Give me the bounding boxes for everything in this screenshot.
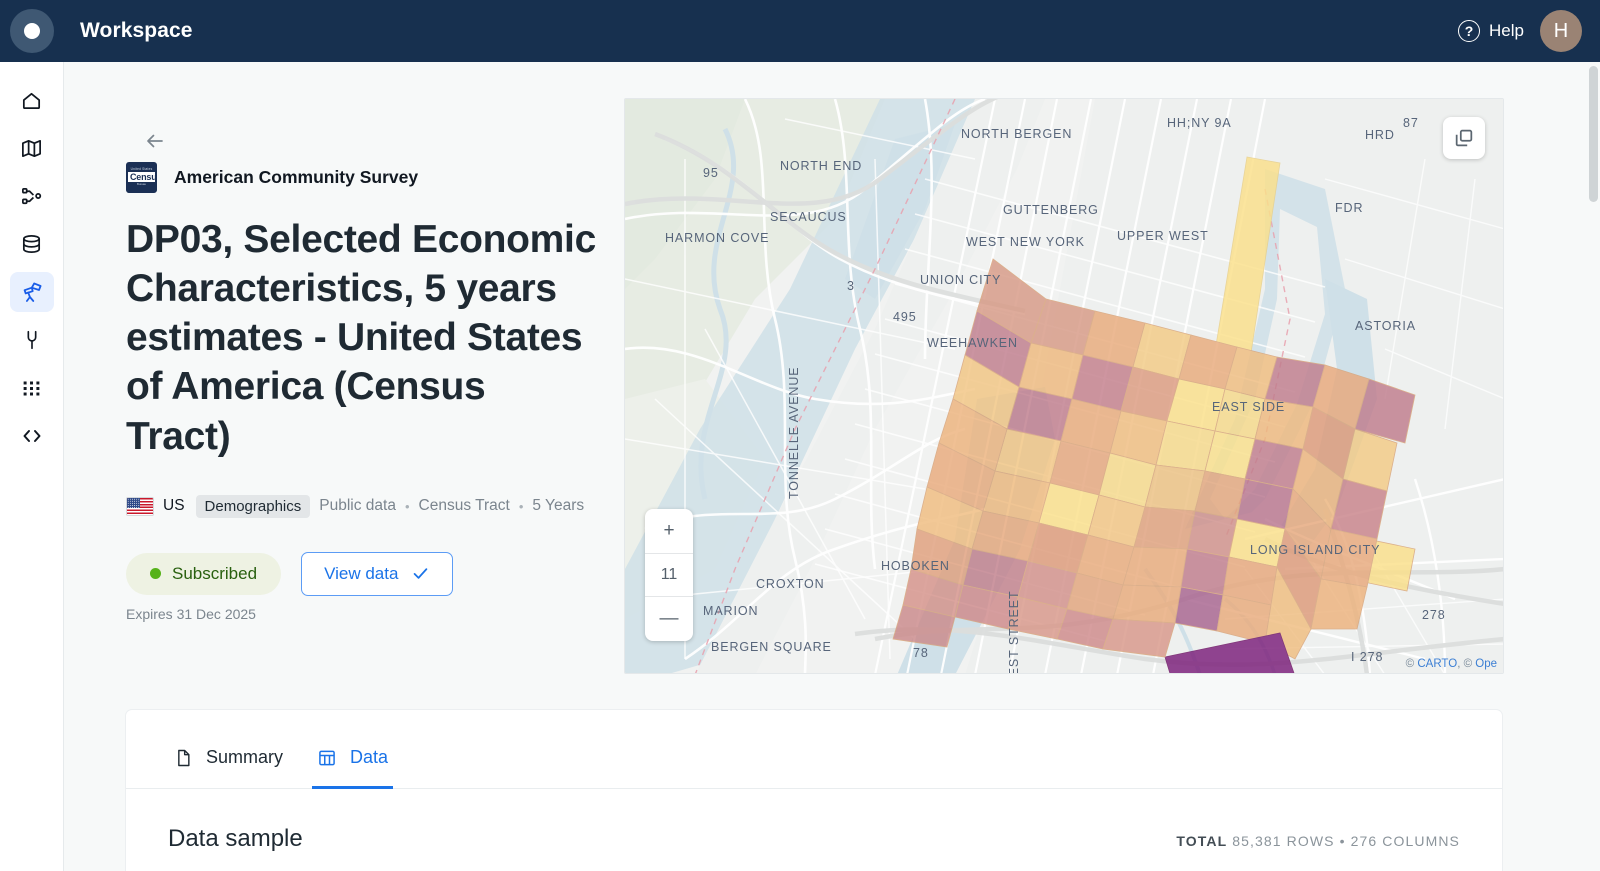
map-zoom-control[interactable]: + 11 — xyxy=(645,509,693,641)
sidebar-item-data[interactable] xyxy=(10,224,54,264)
dataset-meta: US Demographics Public data • Census Tra… xyxy=(126,495,646,518)
provider-name: American Community Survey xyxy=(174,167,418,188)
meta-category-chip[interactable]: Demographics xyxy=(196,495,311,518)
page-title: DP03, Selected Economic Characteristics,… xyxy=(126,215,596,461)
help-label: Help xyxy=(1489,21,1524,41)
code-brackets-icon xyxy=(20,424,44,448)
meta-separator-1: • xyxy=(405,499,410,514)
zoom-out-button[interactable]: — xyxy=(645,597,693,641)
dataset-actions: Subscribed View data xyxy=(126,552,646,596)
avatar[interactable]: H xyxy=(1540,10,1582,52)
meta-separator-2: • xyxy=(519,499,524,514)
meta-geography: Census Tract xyxy=(419,497,510,515)
tab-bar: Summary Data xyxy=(126,710,1502,789)
total-separator: • xyxy=(1340,833,1346,849)
total-count: TOTAL 85,381 ROWS • 276 COLUMNS xyxy=(1176,833,1460,849)
sidebar-item-connections[interactable] xyxy=(10,320,54,360)
dataset-info: United States Census Bureau American Com… xyxy=(126,162,646,622)
data-sample-header: Data sample TOTAL 85,381 ROWS • 276 COLU… xyxy=(126,789,1502,853)
attribution-mid: , © xyxy=(1457,658,1475,670)
arrow-left-icon xyxy=(143,129,167,153)
sidebar-item-home[interactable] xyxy=(10,80,54,120)
page-scrollbar[interactable] xyxy=(1589,66,1598,869)
attribution-prefix-1: © xyxy=(1406,658,1418,670)
home-icon xyxy=(20,89,43,112)
census-logo-word: Census xyxy=(128,172,155,182)
telescope-icon xyxy=(20,280,44,304)
sidebar-item-maps[interactable] xyxy=(10,128,54,168)
top-bar: Workspace ? Help H xyxy=(0,0,1600,62)
grid-apps-icon xyxy=(21,378,42,399)
census-logo-bottom: Bureau xyxy=(137,183,146,186)
total-rows: 85,381 ROWS xyxy=(1232,833,1334,849)
sidebar xyxy=(0,62,64,871)
total-columns: 276 COLUMNS xyxy=(1351,833,1460,849)
choropleth-layer xyxy=(625,99,1504,674)
tab-data[interactable]: Data xyxy=(312,747,393,789)
total-label: TOTAL xyxy=(1176,833,1227,849)
map-preview[interactable]: NORTH BERGENHH;NY 9AHRD87NORTH END95GUTT… xyxy=(624,98,1504,674)
us-flag-icon xyxy=(126,497,154,516)
meta-country: US xyxy=(163,497,185,515)
map-canvas[interactable]: NORTH BERGENHH;NY 9AHRD87NORTH END95GUTT… xyxy=(625,99,1503,673)
provider-row: United States Census Bureau American Com… xyxy=(126,162,646,193)
attribution-osm-link[interactable]: Ope xyxy=(1475,658,1497,670)
sidebar-item-developers[interactable] xyxy=(10,416,54,456)
status-label: Subscribed xyxy=(172,564,257,584)
meta-frequency: 5 Years xyxy=(532,497,584,515)
map-layers-button[interactable] xyxy=(1443,117,1485,159)
tab-data-label: Data xyxy=(350,747,388,768)
sidebar-item-catalog[interactable] xyxy=(10,272,54,312)
tab-summary[interactable]: Summary xyxy=(168,747,288,789)
document-icon xyxy=(173,748,193,768)
attribution-carto-link[interactable]: CARTO xyxy=(1417,658,1457,670)
top-bar-actions: ? Help H xyxy=(1458,10,1582,52)
table-icon xyxy=(317,748,337,768)
question-circle-icon: ? xyxy=(1458,20,1480,42)
workflow-icon xyxy=(20,185,43,208)
meta-access: Public data xyxy=(319,497,396,515)
logo-dot-icon xyxy=(24,23,40,39)
detail-panel: Summary Data Data sample TOTAL 85,381 RO… xyxy=(126,710,1502,871)
zoom-level: 11 xyxy=(645,553,693,597)
map-attribution: © CARTO, © Ope xyxy=(1406,658,1497,670)
sidebar-item-workflows[interactable] xyxy=(10,176,54,216)
database-icon xyxy=(20,233,43,256)
expiry-text: Expires 31 Dec 2025 xyxy=(126,606,646,622)
status-dot-icon xyxy=(150,568,161,579)
zoom-in-button[interactable]: + xyxy=(645,509,693,553)
workspace-logo[interactable] xyxy=(10,9,54,53)
map-icon xyxy=(20,137,43,160)
workspace-title: Workspace xyxy=(80,19,193,43)
scrollbar-thumb[interactable] xyxy=(1589,66,1598,202)
tab-summary-label: Summary xyxy=(206,747,283,768)
data-sample-title: Data sample xyxy=(168,825,303,853)
layers-icon xyxy=(1453,127,1475,149)
help-button[interactable]: ? Help xyxy=(1458,20,1524,42)
view-data-label: View data xyxy=(324,564,398,584)
main-content: United States Census Bureau American Com… xyxy=(64,62,1600,871)
plug-icon xyxy=(21,329,43,351)
census-bureau-logo: United States Census Bureau xyxy=(126,162,157,193)
back-button[interactable] xyxy=(138,124,172,158)
check-icon xyxy=(411,564,430,583)
status-badge[interactable]: Subscribed xyxy=(126,553,281,595)
sidebar-item-apps[interactable] xyxy=(10,368,54,408)
view-data-button[interactable]: View data xyxy=(301,552,453,596)
